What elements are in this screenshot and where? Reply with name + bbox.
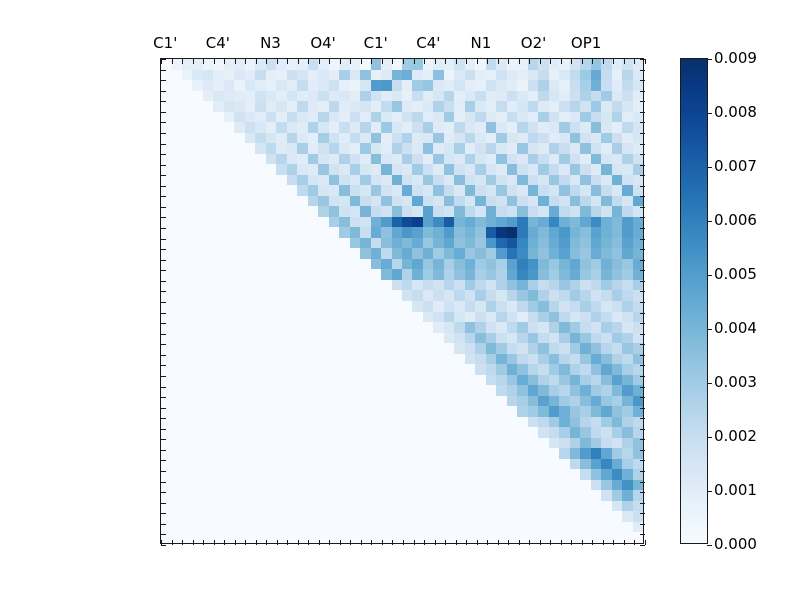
- colorbar-tick-label: 0.007: [714, 157, 757, 175]
- colorbar-tick-labels: 0.0090.0080.0070.0060.0050.0040.0030.002…: [0, 0, 800, 600]
- colorbar-tick-label: 0.006: [714, 211, 757, 229]
- colorbar-tick-label: 0.009: [714, 49, 757, 67]
- colorbar-tick-label: 0.005: [714, 265, 757, 283]
- figure: C1'C4'N3O4'C1'C4'N1O2'OP1 C1'C4'N3O4'C1'…: [0, 0, 800, 600]
- colorbar-tick-label: 0.004: [714, 319, 757, 337]
- colorbar-tick-label: 0.003: [714, 373, 757, 391]
- colorbar-tick-label: 0.001: [714, 481, 757, 499]
- colorbar-tick-label: 0.002: [714, 427, 757, 445]
- colorbar-tick-label: 0.000: [714, 535, 757, 553]
- colorbar-tick-label: 0.008: [714, 103, 757, 121]
